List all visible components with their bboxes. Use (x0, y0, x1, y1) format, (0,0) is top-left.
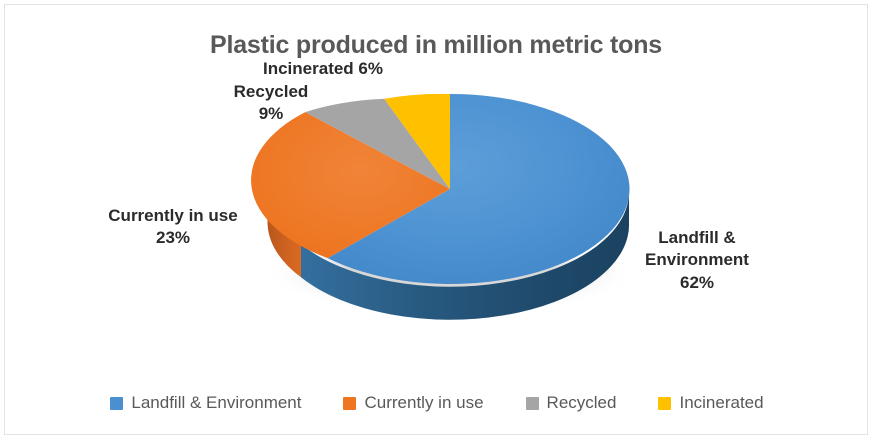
chart-container: Plastic produced in million metric tons (4, 4, 868, 435)
pie-chart-plot-area: Incinerated 6% Recycled 9% Currently in … (5, 5, 869, 380)
legend-swatch-icon-landfill (110, 397, 123, 410)
data-label-incinerated: Incinerated 6% (237, 58, 409, 80)
legend-label-recycled: Recycled (547, 393, 617, 413)
legend-item-incinerated[interactable]: Incinerated (658, 393, 763, 413)
legend-item-landfill[interactable]: Landfill & Environment (110, 393, 301, 413)
data-label-recycled: Recycled 9% (191, 81, 351, 126)
data-label-landfill: Landfill & Environment 62% (607, 227, 787, 294)
legend-swatch-icon-recycled (526, 397, 539, 410)
legend-label-currently-in-use: Currently in use (364, 393, 483, 413)
legend-swatch-icon-incinerated (658, 397, 671, 410)
chart-legend: Landfill & Environment Currently in use … (5, 393, 869, 413)
pie-chart-svg (5, 5, 869, 380)
legend-label-incinerated: Incinerated (679, 393, 763, 413)
legend-item-currently-in-use[interactable]: Currently in use (343, 393, 483, 413)
legend-label-landfill: Landfill & Environment (131, 393, 301, 413)
data-label-currently-in-use: Currently in use 23% (71, 205, 275, 250)
legend-swatch-icon-currently-in-use (343, 397, 356, 410)
legend-item-recycled[interactable]: Recycled (526, 393, 617, 413)
